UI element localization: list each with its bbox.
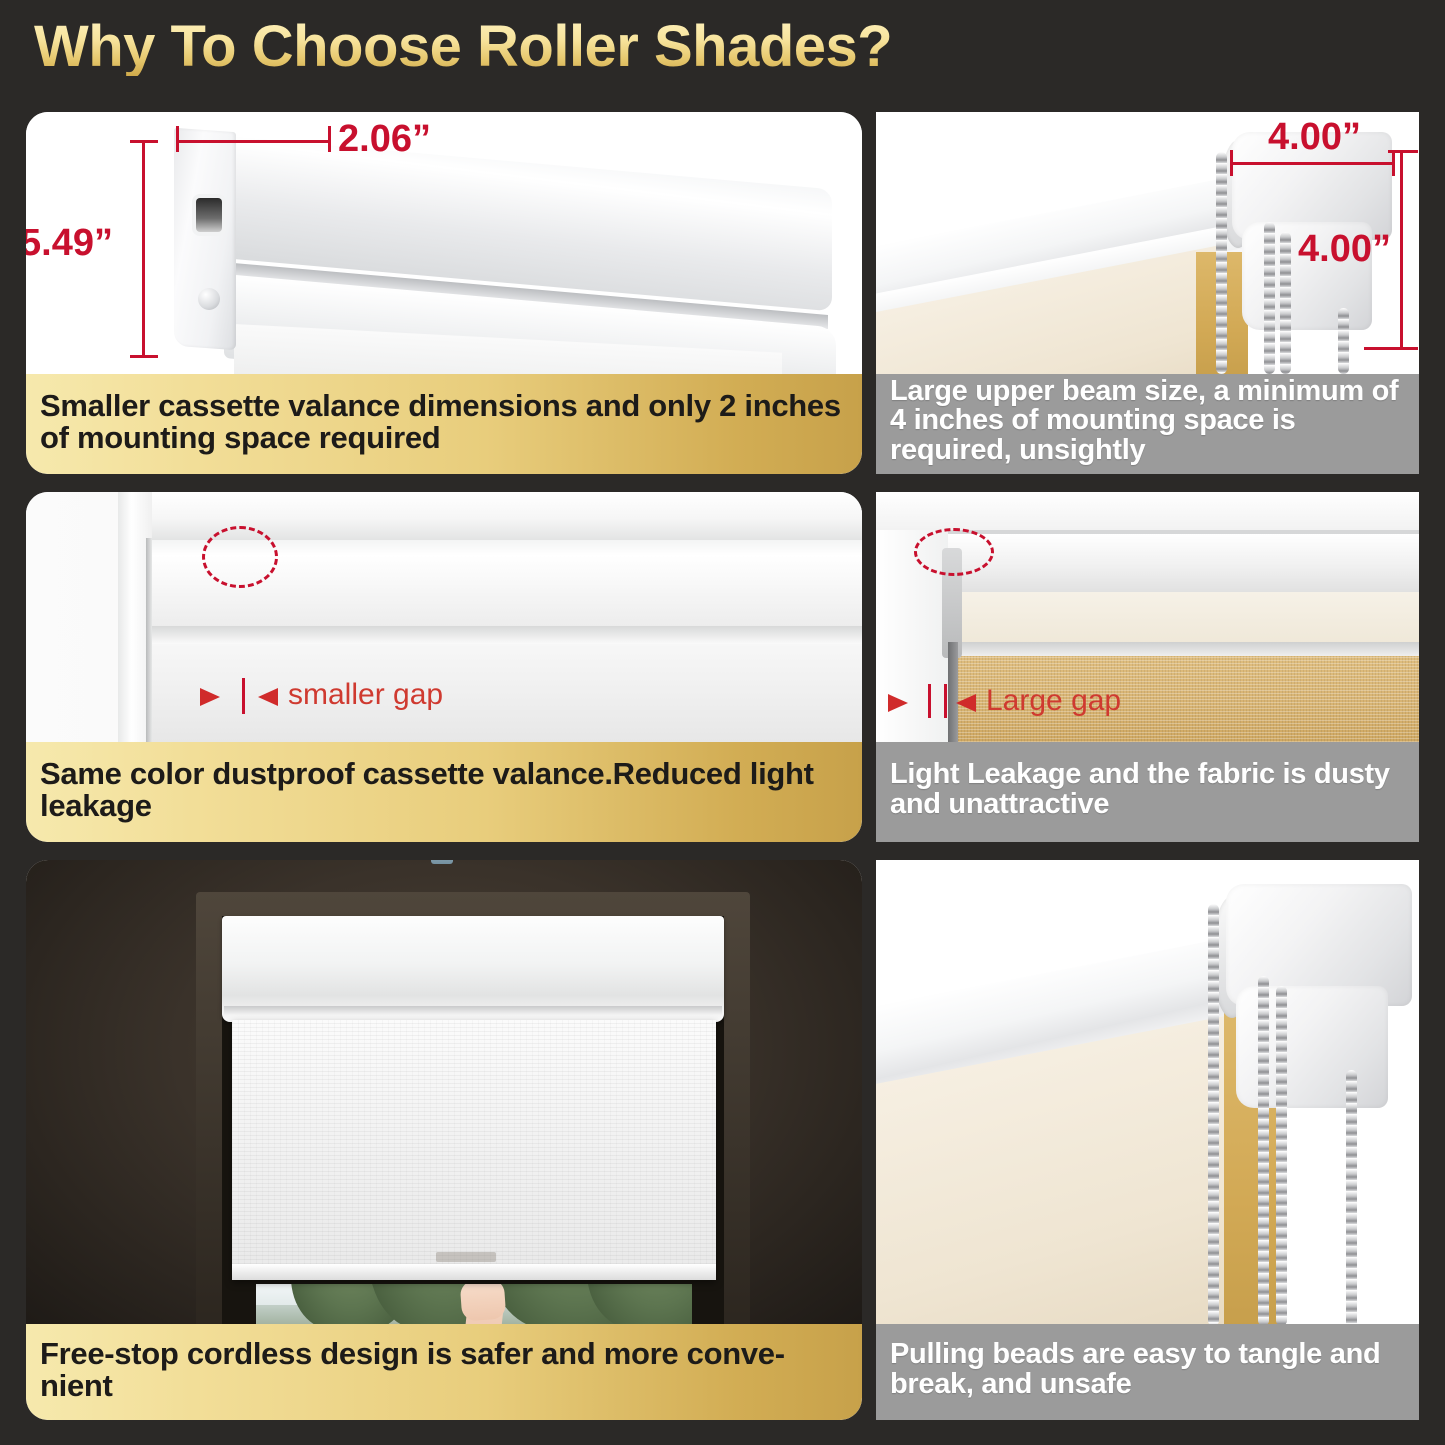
panel-smaller-cassette: 2.06” 5.49” Smaller cassette valance dim… (26, 112, 862, 474)
height-tick-bottom (130, 355, 158, 358)
shade-left-edge (146, 538, 152, 742)
panel-6-image (876, 860, 1419, 1330)
panel-6-caption: Pulling beads are easy to tangle and bre… (876, 1324, 1419, 1420)
beam-width-line (1230, 162, 1394, 165)
panel-pulling-beads: Pulling beads are easy to tangle and bre… (876, 860, 1419, 1420)
panel-1-caption-text: Smaller cassette valance dimensions and … (40, 390, 848, 453)
panel-large-upper-beam: 4.00” 4.00” Large upper beam size, a min… (876, 112, 1419, 474)
panel-5-caption-text: Free-stop cordless design is safer and m… (40, 1338, 848, 1401)
panel-dustproof-valance: smaller gap Same color dustproof cassett… (26, 492, 862, 842)
panel-4-caption: Light Leakage and the fabric is dusty an… (876, 742, 1419, 842)
shade-fabric (232, 1020, 716, 1280)
bead-chain-2 (1258, 976, 1269, 1326)
brand-logo (436, 1252, 496, 1262)
panel-2-image: 4.00” 4.00” (876, 112, 1419, 374)
gap-marker-line-a (928, 684, 931, 718)
pull-tab (431, 860, 453, 864)
panel-5-caption: Free-stop cordless design is safer and m… (26, 1324, 862, 1420)
bead-chain-3 (1276, 986, 1287, 1326)
beam-width-label: 4.00” (1268, 118, 1361, 156)
highlight-ellipse-icon (202, 526, 278, 588)
infographic-page: Why To Choose Roller Shades? 2.06” 5.49”… (0, 0, 1445, 1445)
mounting-bracket (174, 128, 236, 350)
panel-2-caption: Large upper beam size, a minimum of 4 in… (876, 374, 1419, 474)
beam-lower-face (954, 592, 1419, 646)
shade-bottom-bar (232, 1264, 716, 1280)
height-tick-top (130, 140, 158, 143)
beam-width-tick-right (1392, 150, 1395, 176)
bead-chain-2 (1264, 222, 1275, 374)
upper-beam (948, 534, 1419, 600)
panel-3-image: smaller gap (26, 492, 862, 742)
width-tick-left (176, 126, 179, 152)
height-dimension-line (142, 140, 145, 358)
panel-6-caption-text: Pulling beads are easy to tangle and bre… (890, 1340, 1405, 1399)
bead-chain-3 (1280, 232, 1291, 374)
panel-light-leakage: Large gap Light Leakage and the fabric i… (876, 492, 1419, 842)
width-dimension-line (176, 140, 331, 143)
panel-cordless-design: Free-stop cordless design is safer and m… (26, 860, 862, 1420)
panel-2-caption-text: Large upper beam size, a minimum of 4 in… (890, 377, 1405, 466)
panel-1-caption: Smaller cassette valance dimensions and … (26, 374, 862, 474)
bracket-slot (196, 198, 222, 232)
gap-arrow-left-icon (258, 688, 278, 706)
beam-height-tick-top (1388, 150, 1418, 153)
gap-marker-line (242, 678, 245, 714)
light-gap-shadow (948, 642, 958, 742)
beam-height-tick-bottom (1364, 347, 1418, 350)
large-gap-label: Large gap (986, 686, 1121, 716)
panel-3-caption: Same color dustproof cassette valance.Re… (26, 742, 862, 842)
gap-arrow-left-icon (956, 694, 976, 712)
valance-seam (152, 626, 862, 644)
gap-marker-line-b (944, 684, 947, 718)
ceiling-band (876, 492, 1419, 530)
panel-1-image: 2.06” 5.49” (26, 112, 862, 374)
smaller-gap-label: smaller gap (288, 680, 443, 710)
highlight-ellipse-icon (914, 528, 994, 576)
panel-4-image: Large gap (876, 492, 1419, 742)
bead-chain-4 (1346, 1070, 1357, 1328)
beam-height-line (1400, 150, 1403, 350)
panel-3-caption-text: Same color dustproof cassette valance.Re… (40, 758, 848, 821)
panel-5-image (26, 860, 862, 1330)
gap-arrow-right-icon (200, 688, 220, 706)
beam-height-label: 4.00” (1298, 230, 1391, 268)
bracket-screw (198, 288, 220, 310)
hand-fingers (460, 1284, 507, 1321)
bead-chain-1 (1216, 152, 1227, 374)
panel-4-caption-text: Light Leakage and the fabric is dusty an… (890, 760, 1405, 819)
bead-chain-4 (1338, 308, 1349, 374)
beam-rail (954, 642, 1419, 656)
gap-arrow-right-icon (888, 694, 908, 712)
width-tick-right (328, 126, 331, 152)
valance-seam (224, 1006, 722, 1015)
beam-width-tick-left (1230, 150, 1233, 176)
width-dimension-label: 2.06” (338, 120, 431, 158)
bead-chain-1 (1208, 904, 1219, 1326)
page-title: Why To Choose Roller Shades? (34, 18, 892, 76)
height-dimension-label: 5.49” (26, 224, 113, 262)
